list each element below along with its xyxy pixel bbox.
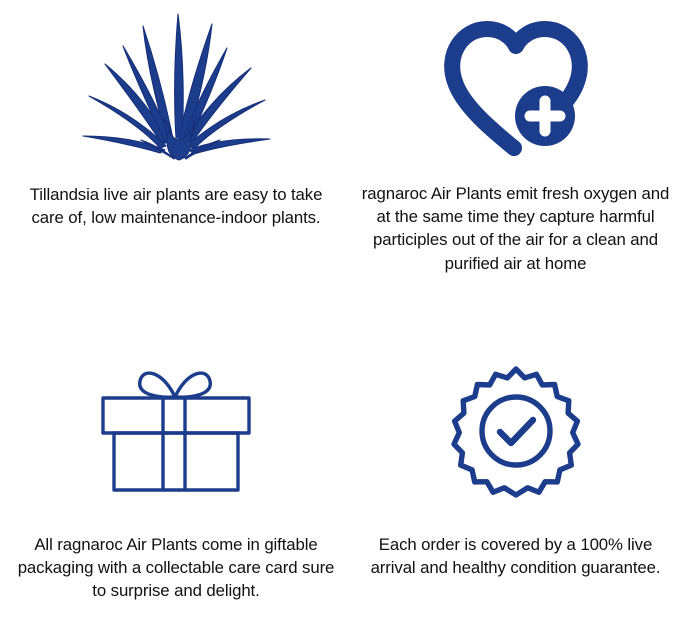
- gift-box-icon-wrap: [0, 308, 352, 493]
- feature-grid: Tillandsia live air plants are easy to t…: [0, 0, 679, 617]
- feature-caption: Each order is covered by a 100% live arr…: [355, 533, 677, 579]
- guarantee-badge-icon: [454, 369, 578, 493]
- air-plant-icon: [81, 10, 271, 160]
- bow-left-loop: [140, 373, 175, 397]
- gift-lid: [103, 398, 249, 433]
- feature-caption: ragnaroc Air Plants emit fresh oxygen an…: [355, 182, 677, 275]
- gift-box-icon: [97, 365, 255, 493]
- guarantee-badge-icon-wrap: [352, 308, 679, 493]
- rosette-outline: [454, 369, 578, 495]
- feature-cell-easy-care: Tillandsia live air plants are easy to t…: [0, 0, 352, 308]
- check-mark-glyph: [500, 420, 533, 443]
- heart-plus-icon: [443, 20, 589, 160]
- feature-caption: Tillandsia live air plants are easy to t…: [8, 183, 344, 229]
- gift-body: [114, 433, 238, 490]
- feature-cell-fresh-oxygen: ragnaroc Air Plants emit fresh oxygen an…: [352, 0, 679, 308]
- badge-inner-circle: [482, 397, 550, 465]
- heart-plus-icon-wrap: [352, 0, 679, 160]
- feature-cell-live-arrival-guarantee: Each order is covered by a 100% live arr…: [352, 308, 679, 617]
- feature-cell-giftable-packaging: All ragnaroc Air Plants come in giftable…: [0, 308, 352, 617]
- feature-caption: All ragnaroc Air Plants come in giftable…: [11, 533, 341, 603]
- bow-right-loop: [175, 373, 210, 397]
- air-plant-icon-wrap: [0, 0, 352, 160]
